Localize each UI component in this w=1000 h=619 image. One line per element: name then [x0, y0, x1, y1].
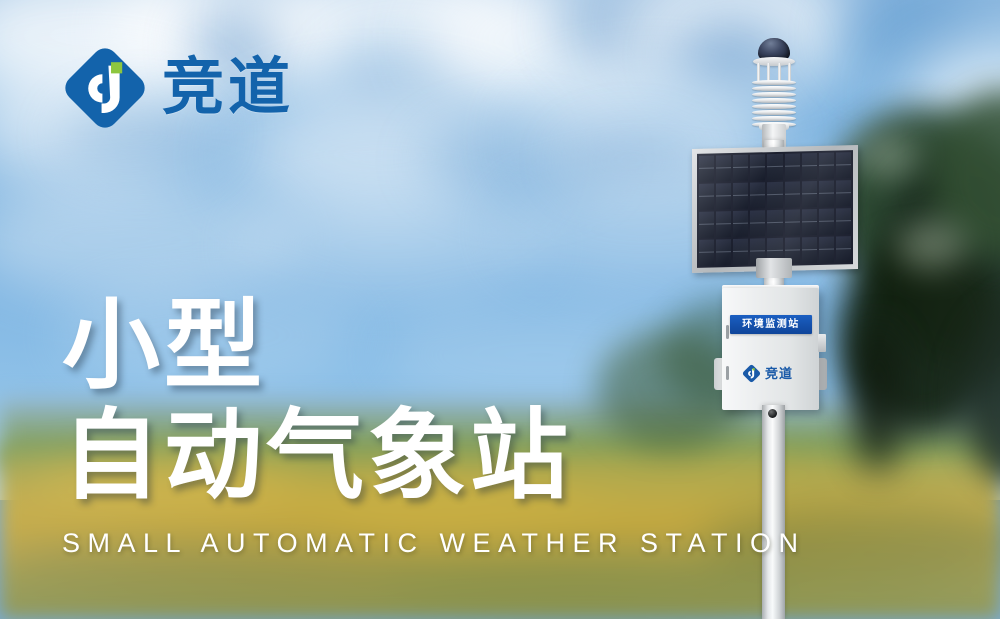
solar-panel-icon	[692, 145, 858, 273]
ultrasonic-weather-sensor-icon	[749, 38, 799, 146]
solar-cell	[699, 211, 714, 237]
solar-cell	[819, 237, 834, 263]
solar-cell	[733, 211, 748, 237]
enclosure-connector	[818, 334, 826, 352]
cloud-shadow-shape	[420, 120, 610, 200]
solar-cell	[785, 181, 800, 207]
solar-cell	[716, 239, 731, 265]
cloud-shadow-shape	[560, 0, 690, 70]
shield-fin	[752, 110, 796, 115]
shield-fin	[752, 104, 796, 109]
solar-panel-frame	[692, 145, 858, 273]
solar-cell	[699, 155, 714, 181]
cloud-shape	[0, 180, 290, 300]
cloud-shape	[240, 190, 540, 300]
solar-cell	[802, 153, 817, 179]
solar-cell	[767, 154, 782, 180]
headline-line-1: 小型	[62, 296, 806, 396]
solar-cell	[716, 155, 731, 181]
solar-cell	[802, 181, 817, 207]
solar-cell	[699, 183, 714, 209]
solar-cell	[767, 182, 782, 208]
solar-cell	[785, 209, 800, 235]
cloud-shadow-shape	[330, 40, 490, 120]
headline-block: 小型 自动气象站 SMALL AUTOMATIC WEATHER STATION	[62, 296, 806, 559]
radiation-shield	[752, 80, 796, 128]
solar-cell	[836, 236, 851, 262]
solar-panel-cells	[697, 150, 853, 268]
cloud-shape	[620, 0, 860, 90]
solar-cell	[819, 153, 834, 179]
shield-fin	[752, 86, 796, 91]
shield-fin	[752, 98, 796, 103]
solar-panel-bracket	[756, 258, 792, 278]
solar-cell	[699, 239, 714, 265]
brand-logo[interactable]: 竞道	[62, 45, 294, 131]
cloud-shape	[420, 0, 680, 110]
solar-cell	[733, 155, 748, 181]
shield-fin	[752, 116, 796, 121]
solar-cell	[836, 152, 851, 178]
solar-cell	[716, 211, 731, 237]
solar-cell	[819, 181, 834, 207]
solar-cell	[836, 180, 851, 206]
solar-cell	[733, 183, 748, 209]
solar-cell	[819, 209, 834, 235]
solar-cell	[716, 183, 731, 209]
solar-cell	[750, 210, 765, 236]
headline-line-2: 自动气象站	[62, 406, 806, 506]
solar-cell	[750, 154, 765, 180]
brand-wordmark: 竞道	[162, 57, 294, 119]
shield-fin	[752, 80, 796, 85]
headline-subtitle: SMALL AUTOMATIC WEATHER STATION	[62, 528, 806, 559]
solar-cell	[802, 209, 817, 235]
cloud-shadow-shape	[840, 0, 990, 80]
solar-cell	[767, 210, 782, 236]
jingdao-diamond-logo-icon	[62, 45, 148, 131]
cloud-shadow-shape	[560, 130, 700, 190]
solar-cell	[785, 153, 800, 179]
solar-cell	[733, 239, 748, 265]
solar-cell	[836, 208, 851, 234]
solar-cell	[802, 237, 817, 263]
weather-station-banner: 环境监测站 竞道 竞道 小型 自	[0, 0, 1000, 619]
solar-cell	[750, 182, 765, 208]
shield-fin	[752, 92, 796, 97]
cloud-shape	[900, 40, 1000, 150]
